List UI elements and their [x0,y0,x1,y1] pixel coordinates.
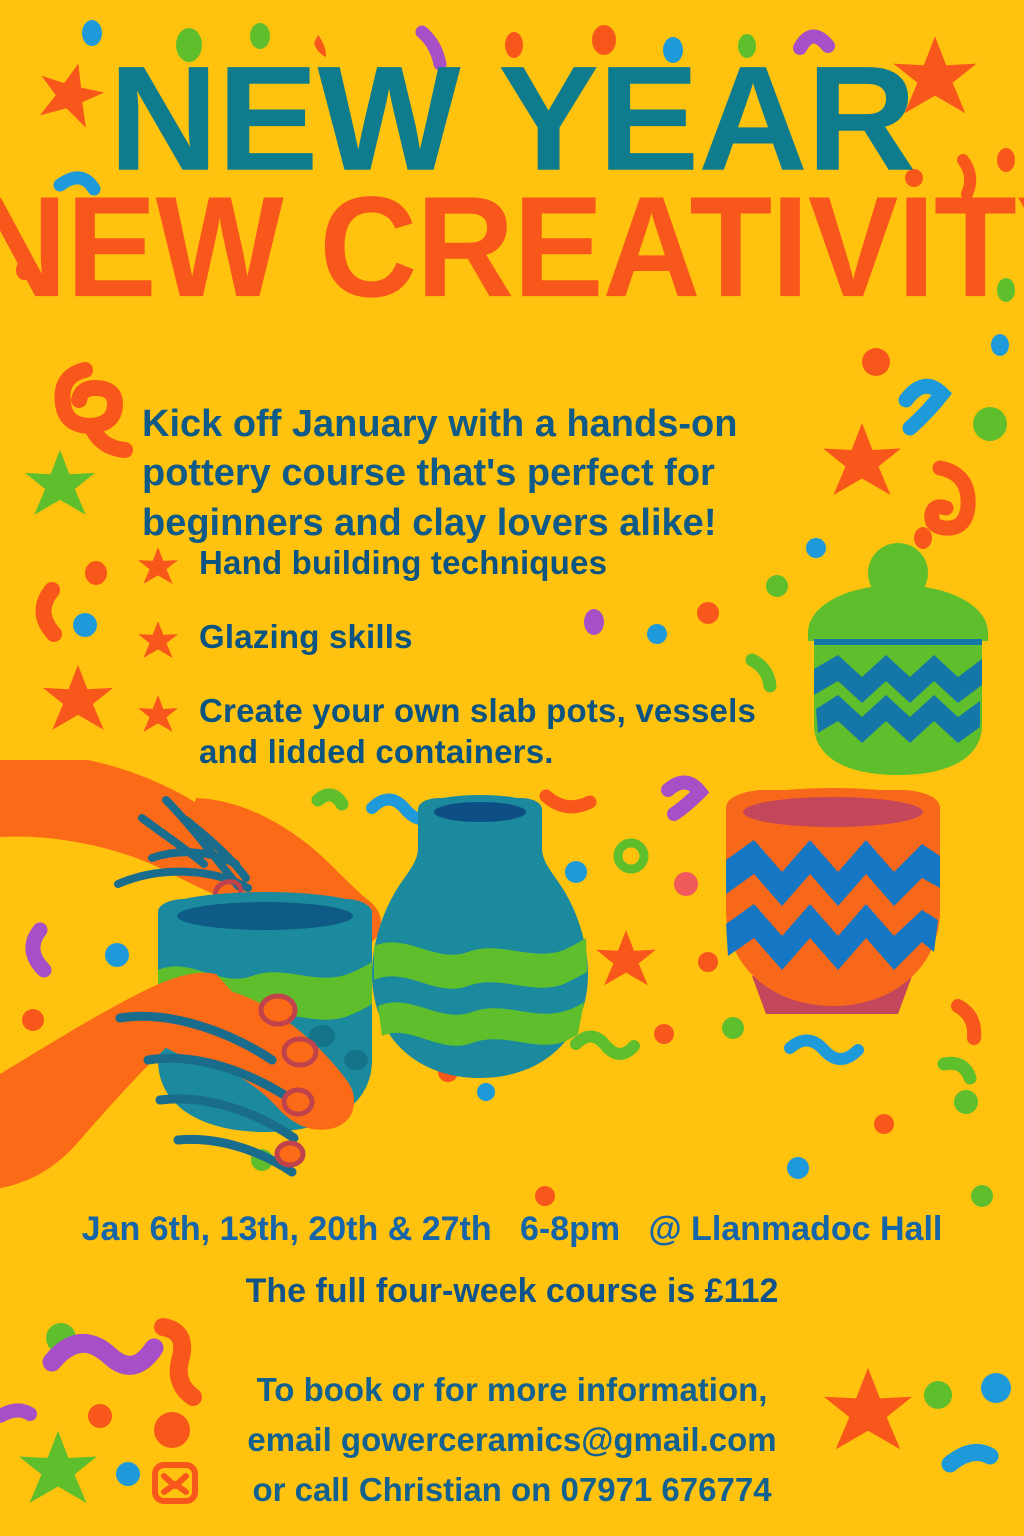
star-icon [135,618,181,664]
green-lidded-jar [790,535,1010,785]
list-item-label: Create your own slab pots, vessels and l… [199,690,815,773]
schedule-line: Jan 6th, 13th, 20th & 27th 6-8pm @ Llanm… [0,1210,1024,1249]
list-item: Create your own slab pots, vessels and l… [135,690,815,773]
star-icon [135,692,181,738]
bowl-inner [743,797,923,827]
orange-bowl [726,788,940,1014]
held-pot-opening [177,902,353,930]
envelope-icon [152,1462,198,1504]
list-item-label: Glazing skills [199,616,413,657]
list-item-label: Hand building techniques [199,542,607,583]
star-icon [135,544,181,590]
headline-line-2: NEW CREATIVITY [0,182,1024,314]
teal-vase [372,795,588,1078]
intro-paragraph: Kick off January with a hands-on pottery… [142,400,802,548]
contact-line-2[interactable]: email gowerceramics@gmail.com [0,1415,1024,1465]
price-line: The full four-week course is £112 [0,1272,1024,1311]
headline: NEW YEAR NEW CREATIVITY [0,56,1024,307]
vase-opening [434,802,526,822]
course-feature-list: Hand building techniques Glazing skills … [135,542,815,799]
contact-line-1: To book or for more information, [0,1365,1024,1415]
list-item: Hand building techniques [135,542,815,590]
illustration-svg [0,760,1024,1190]
pottery-illustration [0,760,1024,1190]
poster-canvas: NEW YEAR NEW CREATIVITY Kick off January… [0,0,1024,1536]
list-item: Glazing skills [135,616,815,664]
